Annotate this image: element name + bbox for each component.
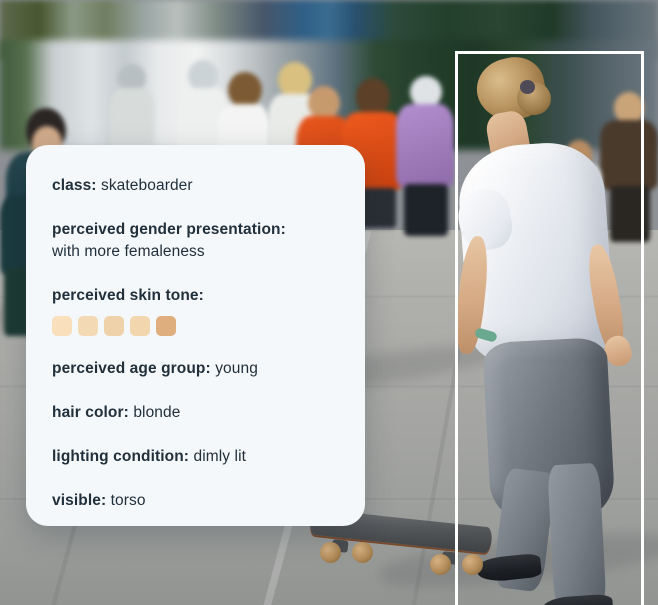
skin-tone-swatch [104, 316, 124, 336]
skin-tone-swatch [130, 316, 150, 336]
attribute-key: perceived skin tone: [52, 287, 204, 304]
skin-tone-swatch [78, 316, 98, 336]
skin-tone-swatch-list [52, 316, 339, 336]
attribute-row-lighting-condition: lighting condition: dimly lit [52, 446, 339, 468]
subject-bounding-box [455, 51, 644, 605]
skateboard-wheel [320, 542, 341, 563]
attribute-key: lighting condition: [52, 448, 189, 465]
attribute-value: skateboarder [101, 177, 193, 194]
attribute-row-perceived-skin-tone: perceived skin tone: [52, 285, 339, 336]
skin-tone-swatch [156, 316, 176, 336]
skin-tone-swatch [52, 316, 72, 336]
attribute-row-perceived-age-group: perceived age group: young [52, 358, 339, 380]
attribute-key: class: [52, 177, 97, 194]
skateboard-wheel [352, 542, 373, 563]
attribute-row-visible: visible: torso [52, 490, 339, 512]
attribute-value: young [215, 360, 258, 377]
skateboard-wheel [430, 554, 451, 575]
attribute-row-class: class: skateboarder [52, 175, 339, 197]
attribute-value: blonde [133, 404, 180, 421]
attribute-value: dimly lit [193, 448, 246, 465]
attribute-key: hair color: [52, 404, 129, 421]
attribute-row-perceived-gender-presentation: perceived gender presentation: with more… [52, 219, 339, 263]
attribute-key: perceived age group: [52, 360, 211, 377]
attribute-value: with more femaleness [52, 241, 339, 263]
attribute-value: torso [111, 492, 146, 509]
attribute-key: perceived gender presentation: [52, 221, 286, 238]
annotation-card: class: skateboarder perceived gender pre… [26, 145, 365, 526]
crowd-person [396, 76, 454, 236]
attribute-row-hair-color: hair color: blonde [52, 402, 339, 424]
screenshot-root: class: skateboarder perceived gender pre… [0, 0, 658, 605]
attribute-key: visible: [52, 492, 106, 509]
